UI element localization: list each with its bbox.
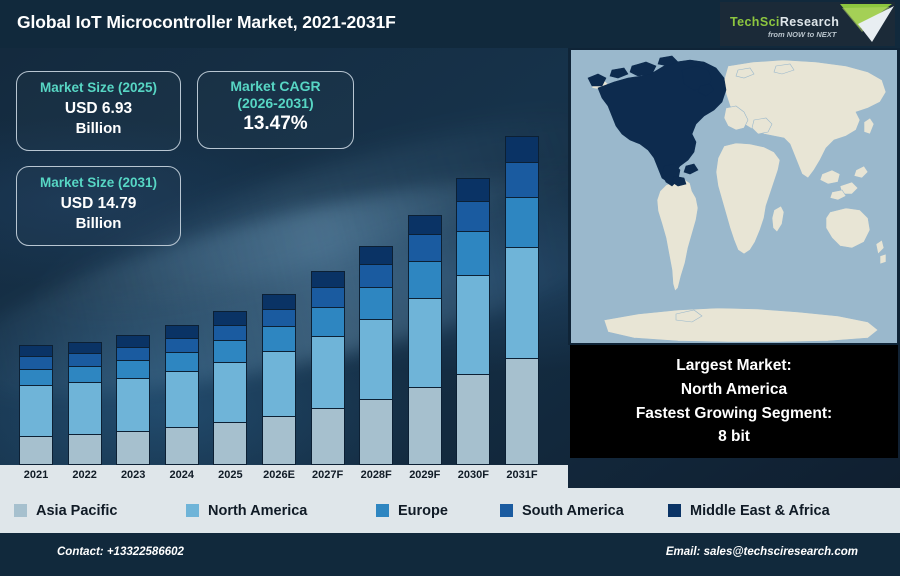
bar-segment: [116, 335, 150, 347]
bar-segment: [262, 326, 296, 350]
bar-segment: [408, 261, 442, 299]
card-label: Market Size (2025): [17, 80, 180, 96]
header-bar: Global IoT Microcontroller Market, 2021-…: [0, 0, 900, 48]
bar-segment: [408, 387, 442, 465]
fastest-segment-value: 8 bit: [718, 425, 750, 449]
techsci-logo[interactable]: TechSciResearch from NOW to NEXT: [720, 2, 895, 46]
x-axis: 202120222023202420252026E2027F2028F2029F…: [0, 465, 568, 488]
bar-segment: [505, 162, 539, 197]
bar-segment: [262, 351, 296, 416]
largest-market-value: North America: [681, 378, 787, 402]
legend-item-north-america[interactable]: North America: [186, 503, 307, 519]
world-map: [568, 48, 900, 345]
bar-segment: [359, 287, 393, 319]
bar-segment: [68, 342, 102, 354]
bar-segment: [262, 309, 296, 327]
bar-segment: [68, 353, 102, 366]
bar-segment: [19, 369, 53, 385]
bar-segment: [19, 356, 53, 369]
legend-label: Europe: [398, 503, 448, 519]
logo-research-text: Research: [780, 15, 840, 29]
bar-segment: [116, 431, 150, 465]
bar-segment: [116, 378, 150, 431]
bar-segment: [311, 408, 345, 465]
legend-label: Middle East & Africa: [690, 503, 830, 519]
bar-segment: [505, 358, 539, 465]
bar-segment: [165, 352, 199, 371]
stacked-bar[interactable]: [408, 215, 442, 465]
legend-swatch: [376, 504, 389, 517]
legend-swatch: [186, 504, 199, 517]
bar-segment: [165, 427, 199, 465]
legend-item-middle-east-africa[interactable]: Middle East & Africa: [668, 503, 830, 519]
largest-market-label: Largest Market:: [676, 354, 791, 378]
card-label-line2: (2026-2031): [237, 95, 313, 111]
bar-segment: [116, 360, 150, 377]
card-unit: Billion: [17, 119, 180, 139]
legend-swatch: [668, 504, 681, 517]
stacked-bar[interactable]: [359, 246, 393, 465]
legend-item-europe[interactable]: Europe: [376, 503, 448, 519]
bar-segment: [505, 136, 539, 162]
bar-segment: [165, 338, 199, 352]
bar-segment: [213, 311, 247, 325]
bar-segment: [359, 399, 393, 465]
bar-segment: [505, 197, 539, 247]
bar-segment: [213, 340, 247, 362]
logo-tech-text: TechSci: [730, 15, 780, 29]
bar-segment: [311, 271, 345, 287]
bar-segment: [165, 371, 199, 427]
card-market-cagr: Market CAGR (2026-2031) 13.47%: [197, 71, 354, 149]
bar-segment: [68, 366, 102, 382]
fastest-segment-label: Fastest Growing Segment:: [636, 402, 832, 426]
bar-segment: [165, 325, 199, 338]
bar-segment: [359, 319, 393, 399]
bar-segment: [116, 347, 150, 360]
card-market-size-2025: Market Size (2025) USD 6.93 Billion: [16, 71, 181, 151]
bar-segment: [213, 422, 247, 465]
stacked-bar[interactable]: [116, 335, 150, 465]
footer-bar: Contact: +13322586602 Email: sales@techs…: [0, 533, 900, 576]
bar-segment: [68, 434, 102, 465]
legend-item-south-america[interactable]: South America: [500, 503, 624, 519]
bar-segment: [19, 345, 53, 356]
card-value: USD 14.79: [17, 194, 180, 214]
bar-segment: [359, 246, 393, 264]
legend-label: South America: [522, 503, 624, 519]
card-label-line1: Market CAGR: [230, 78, 320, 94]
bar-segment: [456, 231, 490, 275]
page-title: Global IoT Microcontroller Market, 2021-…: [17, 12, 396, 33]
bar-segment: [408, 215, 442, 235]
bar-segment: [68, 382, 102, 434]
stacked-bar[interactable]: [19, 345, 53, 465]
bar-segment: [359, 264, 393, 287]
legend-label: North America: [208, 503, 307, 519]
bar-segment: [19, 385, 53, 436]
card-unit: Billion: [17, 214, 180, 234]
bar-segment: [505, 247, 539, 358]
bar-segment: [213, 325, 247, 341]
card-label: Market CAGR (2026-2031): [198, 78, 353, 111]
bar-segment: [311, 307, 345, 335]
stacked-bar[interactable]: [311, 271, 345, 465]
bar-segment: [456, 374, 490, 465]
bar-segment: [262, 416, 296, 465]
bar-segment: [408, 234, 442, 260]
highlights-box: Largest Market: North America Fastest Gr…: [570, 345, 898, 458]
card-value: USD 6.93: [17, 99, 180, 119]
legend-label: Asia Pacific: [36, 503, 117, 519]
bar-segment: [456, 201, 490, 231]
stacked-bar[interactable]: [456, 178, 490, 465]
bar-segment: [456, 178, 490, 201]
infographic-root: Global IoT Microcontroller Market, 2021-…: [0, 0, 900, 576]
bar-segment: [311, 287, 345, 307]
card-label: Market Size (2031): [17, 175, 180, 191]
bar-segment: [262, 294, 296, 308]
bar-segment: [456, 275, 490, 374]
stacked-bar[interactable]: [165, 325, 199, 465]
stacked-bar[interactable]: [213, 311, 247, 465]
email-text: Email: sales@techsciresearch.com: [666, 546, 858, 558]
contact-text: Contact: +13322586602: [57, 546, 184, 558]
legend-item-asia-pacific[interactable]: Asia Pacific: [14, 503, 117, 519]
logo-wordmark: TechSciResearch: [730, 15, 839, 29]
axis-label-2031F: 2031F: [492, 469, 552, 481]
bar-segment: [213, 362, 247, 422]
stacked-bar[interactable]: [505, 136, 539, 465]
card-market-size-2031: Market Size (2031) USD 14.79 Billion: [16, 166, 181, 246]
world-map-svg: [568, 48, 900, 345]
bar-segment: [311, 336, 345, 408]
logo-tagline: from NOW to NEXT: [768, 30, 836, 39]
stacked-bar[interactable]: [262, 294, 296, 465]
stacked-bar[interactable]: [68, 342, 102, 465]
bar-segment: [408, 298, 442, 387]
legend-swatch: [500, 504, 513, 517]
bar-segment: [19, 436, 53, 465]
card-value: 13.47%: [198, 113, 353, 135]
chart-legend: Asia PacificNorth AmericaEuropeSouth Ame…: [0, 488, 900, 533]
legend-swatch: [14, 504, 27, 517]
